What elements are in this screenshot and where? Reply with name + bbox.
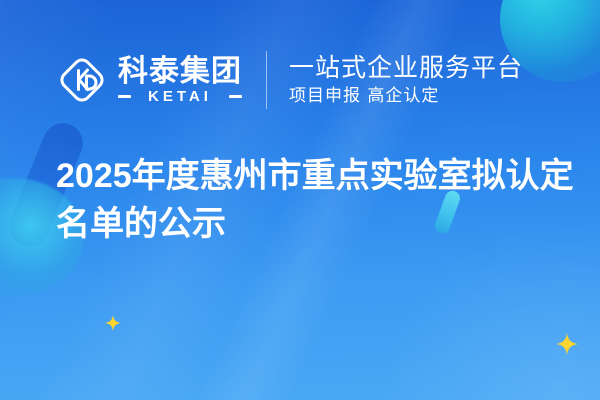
brand-logo[interactable]: 科泰集团 KETAI <box>56 54 242 106</box>
logo-chinese-name: 科泰集团 <box>118 56 242 87</box>
tagline-secondary: 项目申报 高企认定 <box>289 84 523 108</box>
promo-banner: 科泰集团 KETAI 一站式企业服务平台 项目申报 高企认定 2025年度惠州市… <box>0 0 600 400</box>
sparkle-star-icon <box>556 333 578 355</box>
ketai-diamond-kd-monogram-icon <box>56 54 108 106</box>
sparkle-star-icon <box>105 315 121 331</box>
logo-wordmark: 科泰集团 KETAI <box>118 56 242 104</box>
tagline-primary: 一站式企业服务平台 <box>289 53 523 82</box>
logo-latin-row: KETAI <box>118 89 242 104</box>
page-title-line-2: 名单的公示 <box>56 200 576 248</box>
banner-header: 科泰集团 KETAI 一站式企业服务平台 项目申报 高企认定 <box>0 42 600 118</box>
brand-tagline: 一站式企业服务平台 项目申报 高企认定 <box>289 53 523 108</box>
header-divider <box>266 51 267 109</box>
logo-dash-left-icon <box>118 95 131 98</box>
page-title-line-1: 2025年度惠州市重点实验室拟认定 <box>56 152 576 200</box>
page-title: 2025年度惠州市重点实验室拟认定 名单的公示 <box>56 152 576 248</box>
logo-latin-name: KETAI <box>136 89 224 104</box>
logo-dash-right-icon <box>229 95 242 98</box>
